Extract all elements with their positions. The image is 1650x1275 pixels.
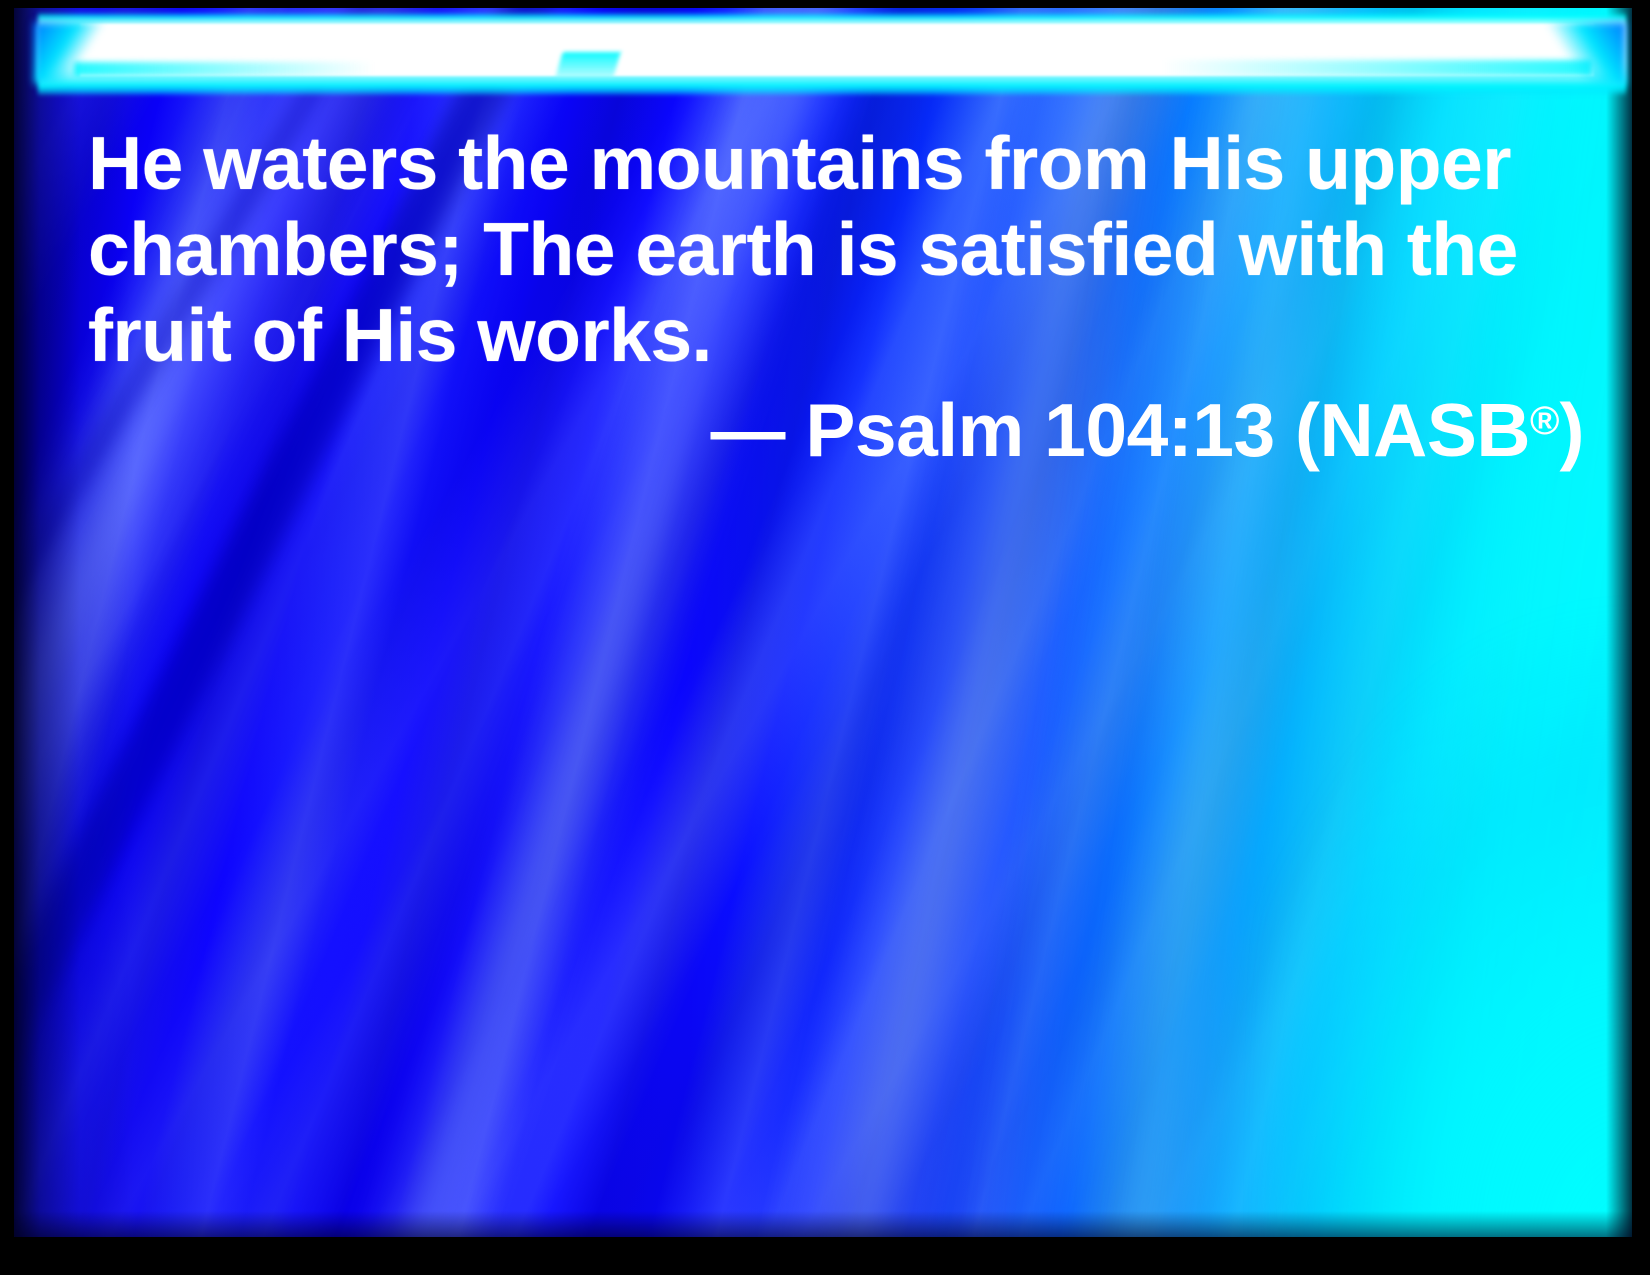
registered-trademark-icon: ®: [1530, 399, 1559, 443]
attribution-em-dash: —: [711, 388, 786, 472]
verse-text: He waters the mountains from His upper c…: [88, 120, 1572, 378]
attribution-close-paren: ): [1560, 388, 1584, 472]
bible-verse-slide: He waters the mountains from His upper c…: [0, 0, 1650, 1275]
bottom-edge-shading: [14, 1211, 1632, 1237]
verse-attribution: — Psalm 104:13 (NASB®): [88, 378, 1584, 473]
slide-artwork-canvas: He waters the mountains from His upper c…: [14, 8, 1632, 1237]
cyan-glow-bottom-right: [1272, 597, 1632, 1237]
right-edge-shading: [1606, 8, 1632, 1237]
attribution-spacer: [785, 388, 805, 472]
attribution-reference: Psalm 104:13 (NASB: [805, 388, 1530, 472]
